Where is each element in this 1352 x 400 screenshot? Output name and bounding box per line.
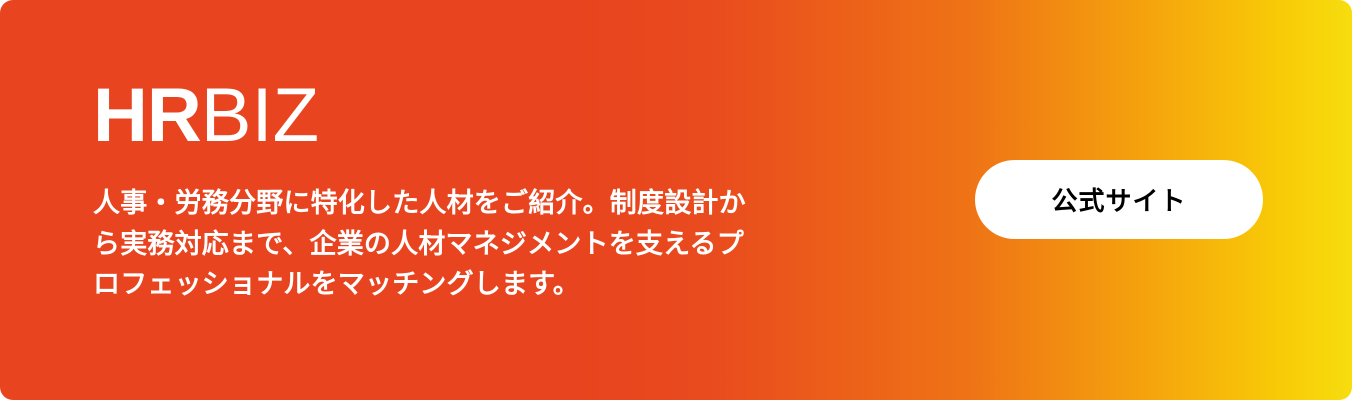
brand-logo: HRBIZ bbox=[93, 78, 319, 154]
official-site-button[interactable]: 公式サイト bbox=[975, 160, 1263, 239]
banner-description: 人事・労務分野に特化した人材をご紹介。制度設計か ら実務対応まで、企業の人材マネ… bbox=[93, 183, 761, 305]
brand-logo-bold: HR bbox=[93, 73, 201, 158]
description-line-2: ら実務対応まで、企業の人材マネジメントを支えるプ bbox=[93, 224, 761, 265]
promo-banner: HRBIZ 人事・労務分野に特化した人材をご紹介。制度設計か ら実務対応まで、企… bbox=[0, 0, 1352, 400]
banner-content: HRBIZ 人事・労務分野に特化した人材をご紹介。制度設計か ら実務対応まで、企… bbox=[93, 0, 793, 400]
description-line-3: ロフェッショナルをマッチングします。 bbox=[93, 264, 761, 305]
brand-logo-light: BIZ bbox=[201, 73, 319, 158]
description-line-1: 人事・労務分野に特化した人材をご紹介。制度設計か bbox=[93, 183, 761, 224]
